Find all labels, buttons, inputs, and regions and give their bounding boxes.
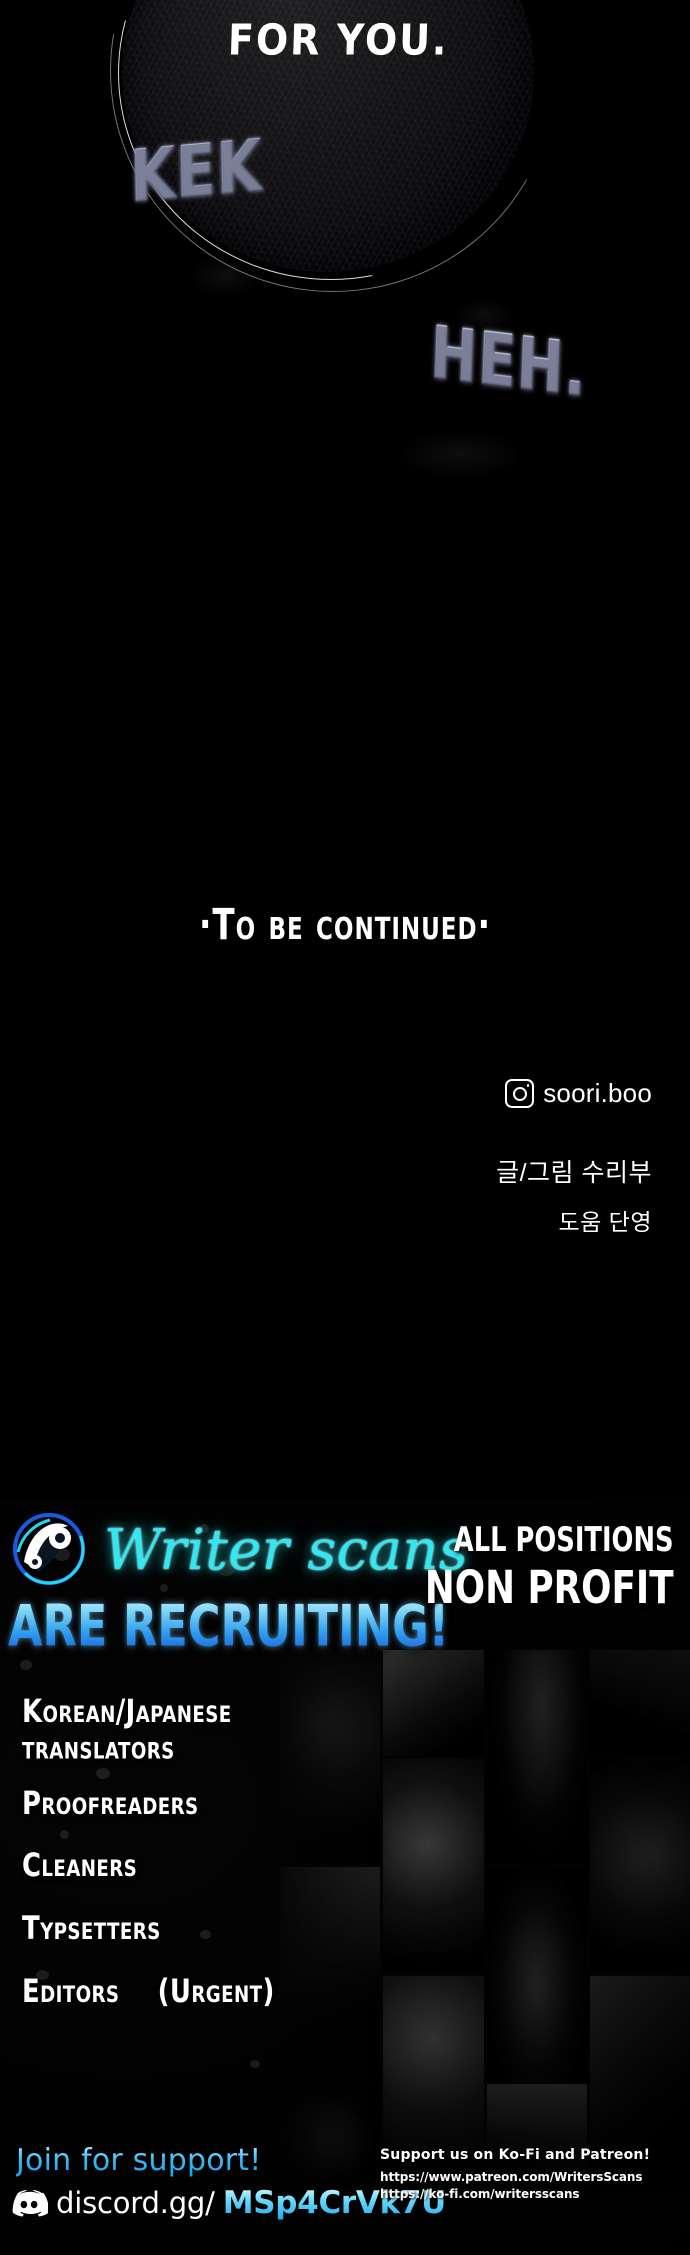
open-positions-list: Korean/Japanese translators Proofreaders… (22, 1695, 285, 2038)
position-label: Cleaners (22, 1848, 137, 1885)
patreon-url[interactable]: https://www.patreon.com/WritersScans (380, 2170, 680, 2184)
position-item: Editors (Urgent) (22, 1975, 275, 2011)
banner-footer: Join for support! discord.gg/ MSp4CrVk7U… (0, 2137, 690, 2255)
collage-cell (590, 1759, 690, 1973)
collage-cell (383, 1650, 483, 1756)
collage-cell (590, 1650, 690, 1756)
discord-icon (10, 2189, 48, 2217)
to-be-continued-caption: ·To be continued· (14, 900, 676, 950)
artwork-collage (280, 1650, 690, 2190)
collage-cell (487, 1650, 587, 1864)
recruitment-banner: Writer scans ARE RECRUITING! ALL POSITIO… (0, 1500, 690, 2255)
dialogue-for-you: FOR YOU. (227, 15, 449, 64)
kofi-url[interactable]: https://ko-fi.com/writersscans (380, 2187, 680, 2201)
speck-decoration (250, 2060, 260, 2068)
instagram-handle: soori.boo (543, 1078, 652, 1109)
sfx-heh: HEH. (429, 317, 588, 408)
support-links-block: Support us on Ko-Fi and Patreon! https:/… (380, 2147, 680, 2201)
all-positions-block: ALL POSITIONS NON PROFIT (409, 1520, 674, 1605)
support-header: Support us on Ko-Fi and Patreon! (380, 2147, 680, 2163)
non-profit-label: NON PROFIT (425, 1561, 674, 1614)
position-item: Typsetters (22, 1912, 275, 1948)
position-label: Proofreaders (22, 1785, 199, 1822)
position-urgent-note: (Urgent) (158, 1974, 275, 2011)
korean-credit-author: 글/그림 수리부 (0, 1153, 652, 1189)
speck-decoration (160, 1584, 168, 1592)
join-for-support-text: Join for support! (16, 2143, 261, 2178)
collage-cell (280, 1650, 380, 1864)
writer-scans-logo-icon (12, 1512, 86, 1586)
position-label: Typsetters (22, 1911, 161, 1948)
all-positions-label: ALL POSITIONS (431, 1520, 674, 1560)
position-item: Korean/Japanese translators (22, 1695, 275, 1768)
position-label: Korean/Japanese (22, 1695, 275, 1731)
discord-url-prefix: discord.gg/ (56, 2186, 215, 2220)
webtoon-page: FOR YOU. KEK HEH. ·To be continued· soor… (0, 0, 690, 2255)
collage-cell (487, 1867, 587, 2081)
comic-panel: FOR YOU. KEK HEH. ·To be continued· soor… (0, 0, 690, 1415)
instagram-credit-line: soori.boo (0, 1078, 652, 1109)
collage-cell (383, 1759, 483, 1973)
position-item: Proofreaders (22, 1787, 275, 1823)
author-credits: soori.boo 글/그림 수리부 도움 단영 (0, 1078, 690, 1237)
sfx-kek: KEK (130, 130, 263, 212)
are-recruiting-headline: ARE RECRUITING! (8, 1592, 449, 1659)
instagram-icon (505, 1079, 534, 1108)
position-label-line2: translators (22, 1731, 275, 1767)
collage-cell (280, 1867, 380, 2081)
position-label: Editors (22, 1974, 119, 2011)
position-item: Cleaners (22, 1849, 275, 1885)
smudge-artifact (400, 430, 520, 478)
korean-credit-assistant: 도움 단영 (0, 1203, 652, 1237)
speck-decoration (20, 1660, 32, 1670)
